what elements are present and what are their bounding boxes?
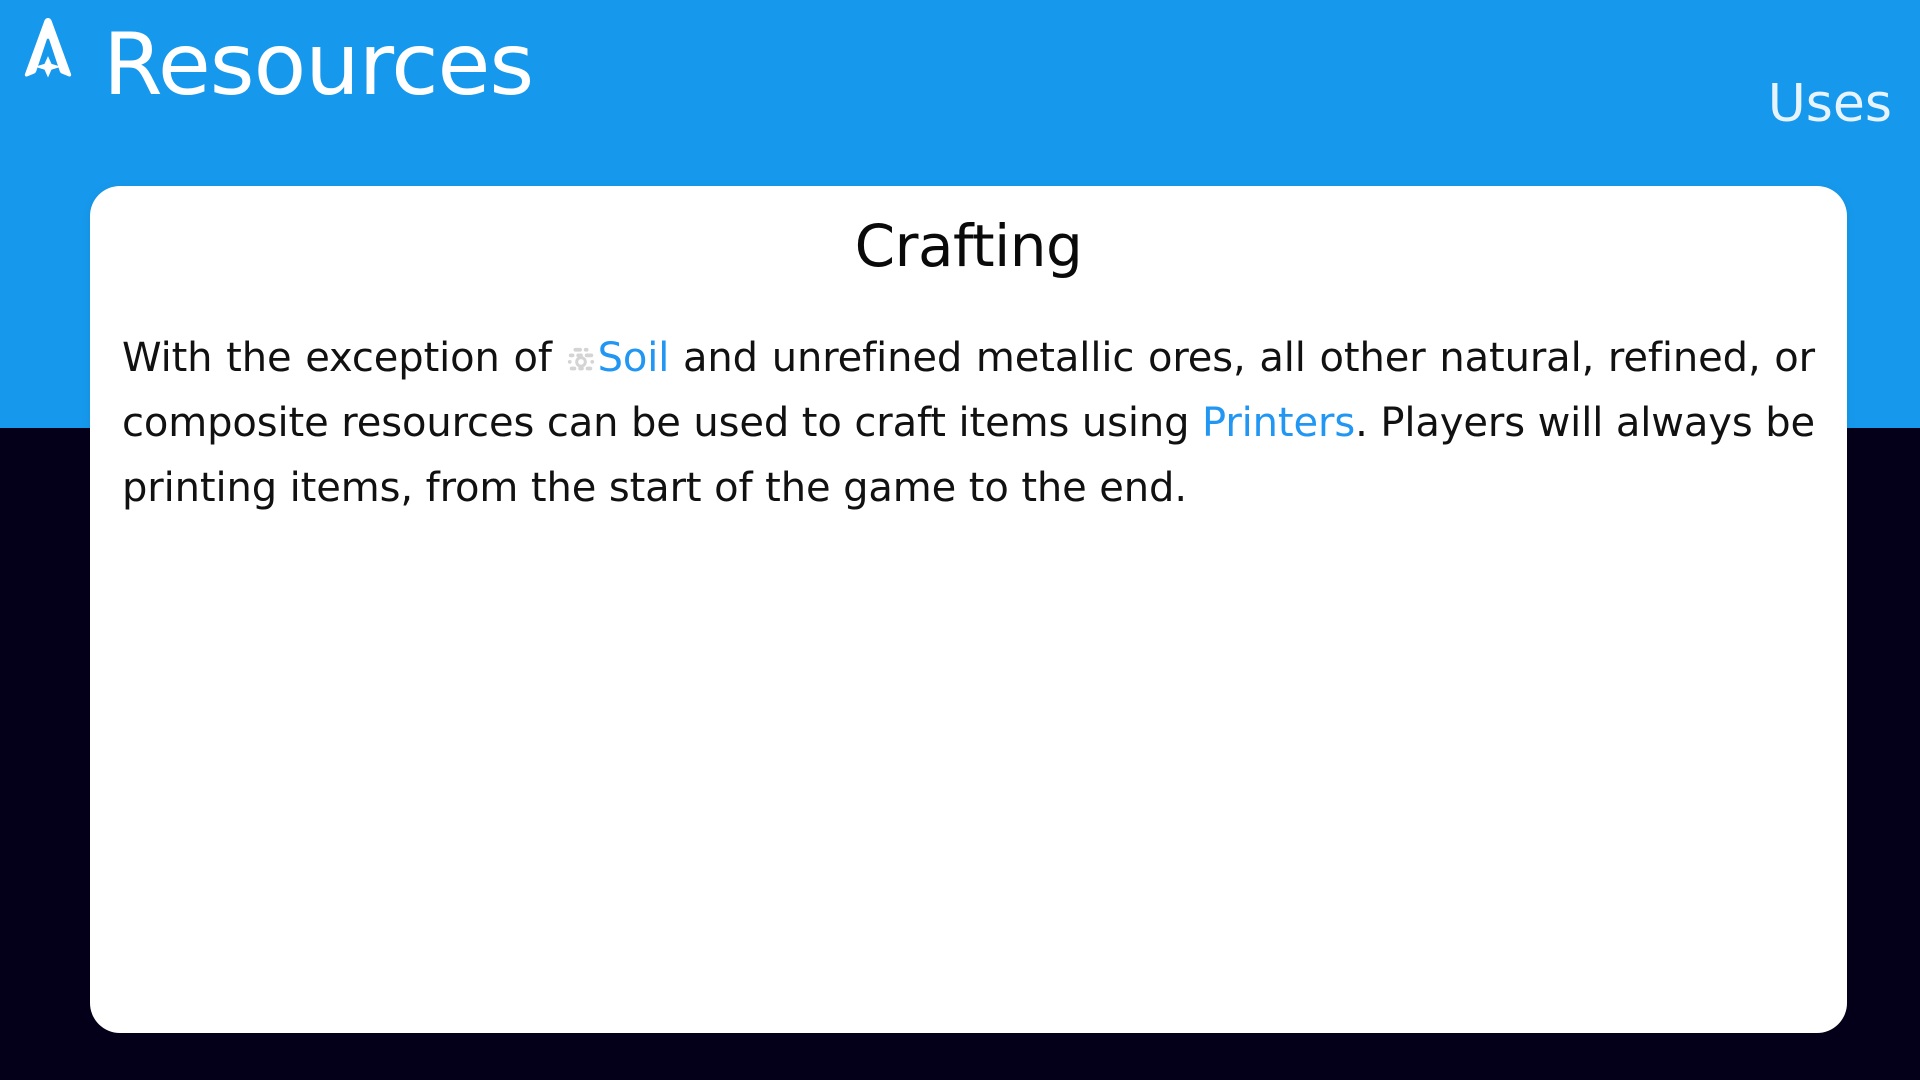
body-segment-1: With the exception of: [122, 335, 566, 381]
card-title: Crafting: [90, 212, 1847, 282]
astroneer-a-star-logo-icon[interactable]: [12, 14, 84, 92]
link-printers[interactable]: Printers: [1202, 400, 1355, 446]
content-card: Crafting With the exception of Soil and …: [90, 186, 1847, 1033]
soil-resource-icon: [566, 330, 596, 360]
page-title: Resources: [103, 18, 533, 113]
nav-link-uses[interactable]: Uses: [1768, 78, 1892, 130]
card-body-text: With the exception of Soil and unrefined…: [122, 326, 1815, 521]
link-soil[interactable]: Soil: [598, 335, 670, 381]
